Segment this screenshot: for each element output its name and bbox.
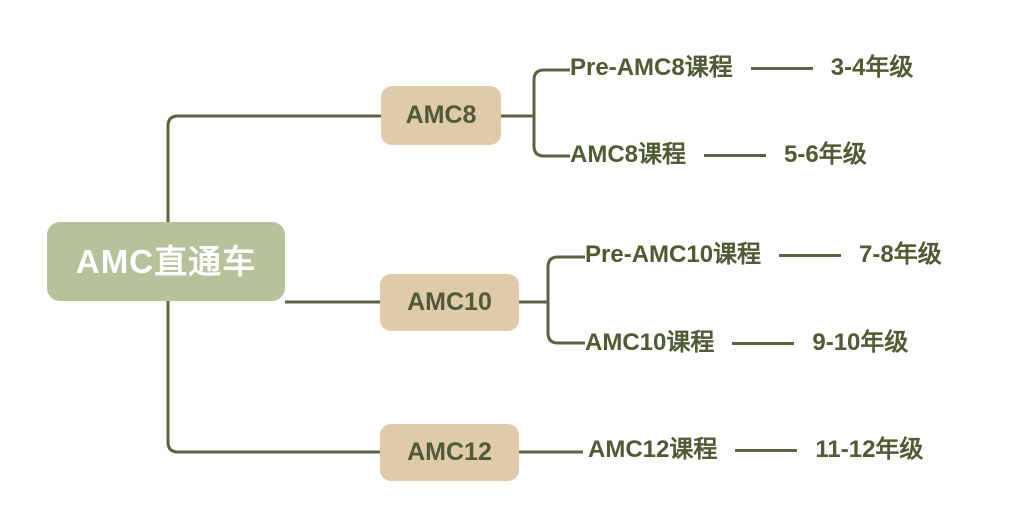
leaf-amc8-grade: 5-6年级 [784, 143, 867, 167]
leaf-amc12[interactable]: AMC12课程 11-12年级 [588, 438, 923, 462]
branch-node-amc8[interactable]: AMC8 [381, 86, 501, 145]
leaf-separator-dash-icon [735, 449, 797, 452]
leaf-pre-amc8[interactable]: Pre-AMC8课程 3-4年级 [570, 56, 913, 80]
leaf-pre-amc10-grade: 7-8年级 [859, 243, 942, 267]
leaf-pre-amc10-title: Pre-AMC10课程 [585, 243, 761, 267]
leaf-amc12-grade: 11-12年级 [815, 438, 923, 462]
branch-node-amc10[interactable]: AMC10 [380, 274, 519, 331]
branch-node-amc8-label: AMC8 [406, 103, 477, 128]
branch-node-amc12-label: AMC12 [407, 440, 492, 465]
connector-root-to-amc8 [168, 116, 381, 126]
leaf-separator-dash-icon [779, 254, 841, 257]
leaf-amc10[interactable]: AMC10课程 9-10年级 [585, 331, 908, 355]
leaf-separator-dash-icon [751, 67, 813, 70]
root-node[interactable]: AMC直通车 [47, 222, 285, 301]
leaf-amc12-title: AMC12课程 [588, 438, 717, 462]
leaf-pre-amc10[interactable]: Pre-AMC10课程 7-8年级 [585, 243, 942, 267]
leaf-pre-amc8-title: Pre-AMC8课程 [570, 56, 733, 80]
connector-amc10-bracket [548, 257, 585, 343]
root-node-label: AMC直通车 [76, 245, 256, 278]
leaf-amc10-grade: 9-10年级 [812, 331, 908, 355]
branch-node-amc12[interactable]: AMC12 [380, 424, 519, 481]
leaf-amc8[interactable]: AMC8课程 5-6年级 [570, 143, 867, 167]
mindmap-canvas: AMC直通车 AMC8 AMC10 AMC12 Pre-AMC8课程 3-4年级… [0, 0, 1024, 530]
branch-node-amc10-label: AMC10 [407, 290, 492, 315]
leaf-amc10-title: AMC10课程 [585, 331, 714, 355]
connector-amc8-bracket [534, 70, 570, 156]
leaf-separator-dash-icon [704, 154, 766, 157]
leaf-pre-amc8-grade: 3-4年级 [831, 56, 914, 80]
leaf-separator-dash-icon [732, 342, 794, 345]
connector-root-to-amc12 [168, 442, 380, 452]
leaf-amc8-title: AMC8课程 [570, 143, 686, 167]
